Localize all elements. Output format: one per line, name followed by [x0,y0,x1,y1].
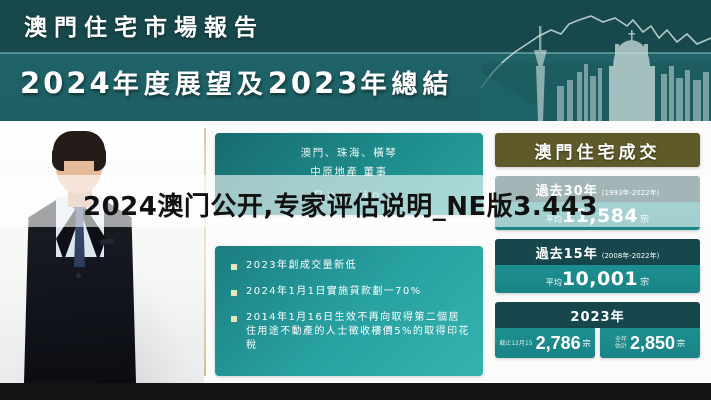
report-subtitle: 2024年度展望及2023年總結 [20,64,453,101]
report-title: 澳門住宅市場報告 [24,8,264,42]
subtitle-end-text: 年總結 [360,70,453,100]
subtitle-year-2024: 2024 [20,66,113,100]
speaker-region-line: 澳門、珠海、橫琴 [215,145,483,160]
bullet-text: 2014年1月16日生效不再向取得第二個居住用途不動產的人士徵收樓價5%的取得印… [246,311,471,353]
bullet-text: 2024年1月1日實施貸款劃一70% [246,285,422,299]
stats-2023-ytd-prefix: 截止12月15 [499,340,532,347]
transactions-stats-panel: 澳門住宅成交 過去30年(1993年-2022年) 平均11,584宗 過去15… [495,133,700,358]
key-points-card: 2023年創成交量新低 2024年1月1日實施貸款劃一70% 2014年1月16… [215,246,483,376]
stats-row-15y-period: 過去15年(2008年-2022年) [495,239,700,265]
stats-2023-forecast-prefix: 全年估計 [615,336,627,350]
bullet-text: 2023年創成交量新低 [246,259,357,273]
watermark-text: 2024澳门公开,专家评估说明_NE版3.443 [83,186,598,223]
stats-2023-forecast: 全年估計 2,850 宗 [600,328,700,358]
bullet-square-icon [231,290,237,296]
stats-2023-forecast-unit: 宗 [677,338,685,349]
period-label-15y: 過去15年 [536,247,598,262]
speaker-photo [0,121,204,383]
subtitle-year-2023: 2023 [268,66,361,100]
list-item: 2014年1月16日生效不再向取得第二個居住用途不動產的人士徵收樓價5%的取得印… [229,311,471,353]
stats-row-2023: 2023年 截止12月15 2,786 宗 全年估計 2,850 宗 [495,302,700,358]
stats-panel-heading: 澳門住宅成交 [495,133,700,167]
forecast-prefix-line2: 估計 [615,343,627,350]
stats-row-2023-period: 2023年 [495,302,700,328]
period-range-15y: (2008年-2022年) [602,252,660,260]
subtitle-middle-text: 年度展望及 [113,70,268,100]
stats-2023-forecast-value: 2,850 [630,333,675,354]
avg-value-15y: 10,001 [562,268,638,290]
list-item: 2023年創成交量新低 [229,259,471,273]
photo-hair-side-right [94,145,106,171]
forecast-prefix-line1: 全年 [615,336,627,343]
photo-jacket-button [76,273,81,278]
footer-strip [0,383,711,400]
stats-row-15y-period-label: 過去15年(2008年-2022年) [536,243,660,262]
list-item: 2024年1月1日實施貸款劃一70% [229,285,471,299]
stats-row-15y: 過去15年(2008年-2022年) 平均10,001宗 [495,239,700,293]
poster-header: 澳門住宅市場報告 2024年度展望及2023年總結 [0,0,711,121]
stats-2023-ytd: 截止12月15 2,786 宗 [495,328,595,358]
bullet-square-icon [231,316,237,322]
stats-2023-ytd-value: 2,786 [536,333,581,354]
photo-hair-side-left [52,145,64,171]
avg-prefix-15y: 平均 [546,278,562,287]
bullet-square-icon [231,264,237,270]
macau-skyline-chart-art [481,0,711,121]
stats-panel-heading-label: 澳門住宅成交 [535,138,661,163]
stats-row-15y-value-text: 平均10,001宗 [546,268,649,290]
stats-row-15y-value: 平均10,001宗 [495,265,700,293]
stats-row-2023-period-label: 2023年 [570,306,624,325]
stats-row-2023-split: 截止12月15 2,786 宗 全年估計 2,850 宗 [495,328,700,358]
poster-canvas: 澳門住宅市場報告 2024年度展望及2023年總結 澳門、珠海、橫琴 中原地產 … [0,0,711,400]
avg-unit-15y: 宗 [640,278,649,288]
stats-2023-ytd-unit: 宗 [583,338,591,349]
gold-vertical-divider [204,128,206,376]
